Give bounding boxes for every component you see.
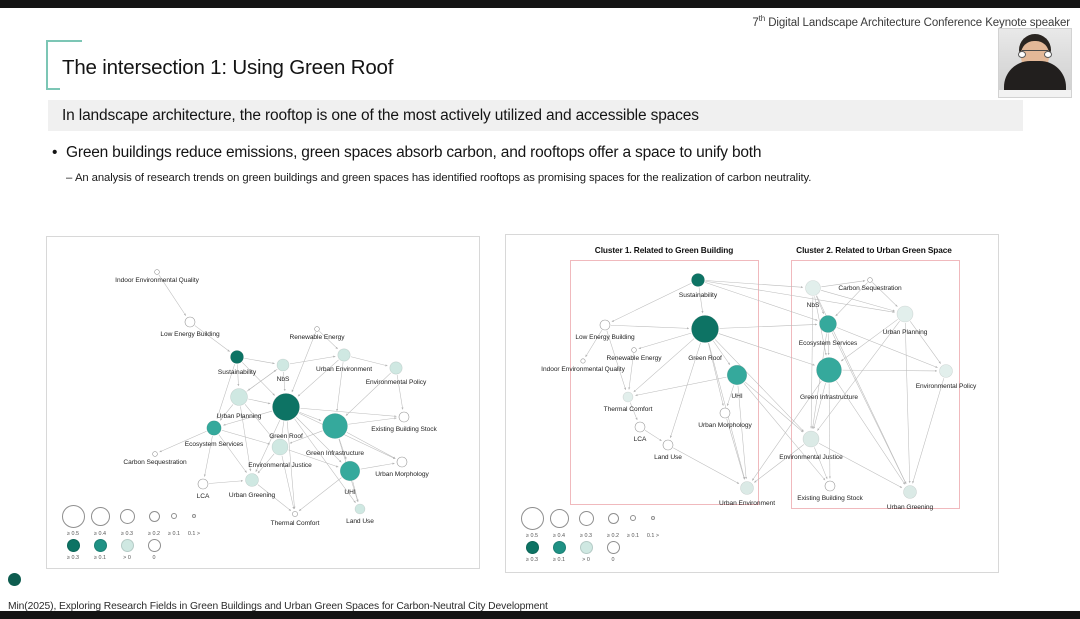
bullet-primary-text: Green buildings reduce emissions, green … xyxy=(66,144,761,161)
network-panel-right[interactable]: Cluster 1. Related to Green BuildingClus… xyxy=(505,234,999,573)
node-label-sustainability: Sustainability xyxy=(218,369,256,376)
network-node-green_infrastructure[interactable] xyxy=(817,358,842,383)
node-label-low_energy_building: Low Energy Building xyxy=(160,331,219,338)
node-label-indoor_env_quality: Indoor Environmental Quality xyxy=(541,366,625,373)
legend-size-label-1: ≥ 0.4 xyxy=(94,531,106,537)
legend-size-label-5: 0.1 > xyxy=(188,531,200,537)
network-node-indoor_env_quality[interactable] xyxy=(581,359,585,363)
legend-color-circle-3 xyxy=(607,541,620,554)
network-node-lca[interactable] xyxy=(198,479,208,489)
node-label-environmental_policy: Environmental Policy xyxy=(916,383,977,390)
node-label-green_infrastructure: Green Infrastructure xyxy=(800,394,858,401)
network-node-carbon_sequestration[interactable] xyxy=(153,452,158,457)
legend-size-circle-0 xyxy=(521,507,544,530)
legend-size-label-4: ≥ 0.1 xyxy=(168,531,180,537)
legend-size-circle-0 xyxy=(62,505,85,528)
legend-size-circle-3 xyxy=(149,511,160,522)
node-label-green_roof: Green Roof xyxy=(688,355,722,362)
legend-size-label-3: ≥ 0.2 xyxy=(148,531,160,537)
highlight-banner: In landscape architecture, the rooftop i… xyxy=(48,100,1023,131)
legend-size-label-0: ≥ 0.5 xyxy=(526,533,538,539)
bullet-primary: •Green buildings reduce emissions, green… xyxy=(52,144,761,162)
node-label-carbon_sequestration: Carbon Sequestration xyxy=(838,285,901,292)
legend-size-circle-1 xyxy=(91,507,110,526)
node-label-thermal_comfort: Thermal Comfort xyxy=(271,520,320,527)
network-node-green_infrastructure[interactable] xyxy=(323,414,348,439)
network-node-low_energy_building[interactable] xyxy=(185,317,195,327)
network-node-ecosystem_services[interactable] xyxy=(820,316,837,333)
bullet-secondary: –An analysis of research trends on green… xyxy=(66,172,811,184)
legend-size-circle-1 xyxy=(550,509,569,528)
network-node-renewable_energy[interactable] xyxy=(632,348,637,353)
network-node-lca[interactable] xyxy=(635,422,645,432)
node-label-lca: LCA xyxy=(634,436,647,443)
legend-color-label-0: ≥ 0.3 xyxy=(526,557,538,563)
node-label-uhi: UHI xyxy=(731,393,742,400)
node-label-green_roof: Green Roof xyxy=(269,433,303,440)
legend-color-label-0: ≥ 0.3 xyxy=(67,555,79,561)
legend-size-circle-2 xyxy=(579,511,594,526)
legend: ≥ 0.5≥ 0.4≥ 0.3≥ 0.2≥ 0.10.1 >≥ 0.3≥ 0.1… xyxy=(59,503,229,559)
legend-color-label-3: 0 xyxy=(153,555,156,561)
legend-size-label-2: ≥ 0.3 xyxy=(121,531,133,537)
legend-color-circle-1 xyxy=(553,541,566,554)
window-bottom-bar xyxy=(0,611,1080,619)
network-node-thermal_comfort[interactable] xyxy=(292,511,297,516)
legend-color-label-1: ≥ 0.1 xyxy=(553,557,565,563)
network-node-green_roof[interactable] xyxy=(692,316,719,343)
node-label-low_energy_building: Low Energy Building xyxy=(575,334,634,341)
node-label-ecosystem_services: Ecosystem Services xyxy=(799,340,857,347)
node-label-land_use: Land Use xyxy=(654,454,682,461)
network-node-sustainability[interactable] xyxy=(692,274,705,287)
edges-group xyxy=(159,275,403,511)
node-label-existing_building_stock: Existing Building Stock xyxy=(797,495,863,502)
page-title: The intersection 1: Using Green Roof xyxy=(62,56,393,80)
node-label-carbon_sequestration: Carbon Sequestration xyxy=(123,459,186,466)
legend-size-circle-4 xyxy=(630,515,636,521)
network-node-low_energy_building[interactable] xyxy=(600,320,610,330)
node-label-urban_morphology: Urban Morphology xyxy=(698,422,751,429)
network-node-environmental_justice[interactable] xyxy=(272,439,288,455)
legend-size-label-1: ≥ 0.4 xyxy=(553,533,565,539)
network-node-thermal_comfort[interactable] xyxy=(623,392,633,402)
legend-color-label-2: > 0 xyxy=(123,555,131,561)
node-label-nbs: NbS xyxy=(807,302,820,309)
legend-color-circle-1 xyxy=(94,539,107,552)
node-label-urban_greening: Urban Greening xyxy=(887,504,933,511)
webcam-torso xyxy=(1004,61,1066,91)
network-node-urban_greening[interactable] xyxy=(246,474,259,487)
network-node-ecosystem_services[interactable] xyxy=(207,421,221,435)
legend-color-circle-2 xyxy=(580,541,593,554)
title-bracket-corner xyxy=(46,76,60,90)
legend-size-label-0: ≥ 0.5 xyxy=(67,531,79,537)
footer-bullet-icon xyxy=(8,573,21,586)
bullet-marker-icon: • xyxy=(52,144,66,162)
network-node-environmental_justice[interactable] xyxy=(803,431,819,447)
node-label-renewable_energy: Renewable Energy xyxy=(290,334,345,341)
network-node-urban_morphology[interactable] xyxy=(397,457,407,467)
network-node-urban_planning[interactable] xyxy=(231,389,248,406)
webcam-desk xyxy=(999,90,1071,97)
network-node-urban_environment[interactable] xyxy=(741,482,754,495)
network-node-existing_building_stock[interactable] xyxy=(399,412,409,422)
edges-group xyxy=(585,281,943,488)
legend-size-label-2: ≥ 0.3 xyxy=(580,533,592,539)
legend-size-circle-5 xyxy=(192,514,196,518)
network-node-urban_morphology[interactable] xyxy=(720,408,730,418)
node-label-environmental_policy: Environmental Policy xyxy=(366,379,427,386)
node-label-nbs: NbS xyxy=(277,376,290,383)
legend-size-circle-3 xyxy=(608,513,619,524)
network-node-green_roof[interactable] xyxy=(273,394,300,421)
legend-size-circle-2 xyxy=(120,509,135,524)
node-label-existing_building_stock: Existing Building Stock xyxy=(371,426,437,433)
speaker-webcam-thumbnail[interactable] xyxy=(998,28,1072,98)
legend-size-circle-4 xyxy=(171,513,177,519)
network-node-environmental_policy[interactable] xyxy=(940,365,953,378)
node-label-environmental_justice: Environmental Justice xyxy=(248,462,311,469)
network-node-urban_greening[interactable] xyxy=(904,486,917,499)
node-label-thermal_comfort: Thermal Comfort xyxy=(604,406,653,413)
legend-size-label-4: ≥ 0.1 xyxy=(627,533,639,539)
network-node-renewable_energy[interactable] xyxy=(315,327,320,332)
bullet-secondary-text: An analysis of research trends on green … xyxy=(75,172,811,184)
node-label-urban_planning: Urban Planning xyxy=(217,413,262,420)
legend-color-label-1: ≥ 0.1 xyxy=(94,555,106,561)
network-node-indoor_env_quality[interactable] xyxy=(155,270,160,275)
legend: ≥ 0.5≥ 0.4≥ 0.3≥ 0.2≥ 0.10.1 >≥ 0.3≥ 0.1… xyxy=(518,505,688,561)
node-label-renewable_energy: Renewable Energy xyxy=(607,355,662,362)
node-label-lca: LCA xyxy=(197,493,210,500)
legend-color-circle-0 xyxy=(67,539,80,552)
legend-size-circle-5 xyxy=(651,516,655,520)
legend-color-label-2: > 0 xyxy=(582,557,590,563)
legend-size-label-3: ≥ 0.2 xyxy=(607,533,619,539)
node-label-ecosystem_services: Ecosystem Services xyxy=(185,441,243,448)
network-node-carbon_sequestration[interactable] xyxy=(868,278,873,283)
webcam-eye-right xyxy=(1044,51,1052,58)
network-node-nbs[interactable] xyxy=(277,359,289,371)
network-node-sustainability[interactable] xyxy=(231,351,244,364)
legend-color-circle-2 xyxy=(121,539,134,552)
node-label-urban_environment: Urban Environment xyxy=(719,500,775,507)
nodes-group xyxy=(153,270,409,517)
webcam-eye-left xyxy=(1018,51,1026,58)
network-node-urban_planning[interactable] xyxy=(897,306,913,322)
legend-color-label-3: 0 xyxy=(612,557,615,563)
window-top-bar xyxy=(0,0,1080,8)
node-label-sustainability: Sustainability xyxy=(679,292,717,299)
conference-header: 7th Digital Landscape Architecture Confe… xyxy=(752,14,1070,29)
node-label-environmental_justice: Environmental Justice xyxy=(779,454,842,461)
network-node-land_use[interactable] xyxy=(663,440,673,450)
legend-color-circle-0 xyxy=(526,541,539,554)
highlight-banner-text: In landscape architecture, the rooftop i… xyxy=(48,107,699,125)
network-node-nbs[interactable] xyxy=(806,281,821,296)
sub-bullet-marker-icon: – xyxy=(66,172,75,184)
network-node-land_use[interactable] xyxy=(355,504,365,514)
network-panel-left[interactable]: Indoor Environmental QualityLow Energy B… xyxy=(46,236,480,569)
network-node-uhi[interactable] xyxy=(340,461,360,481)
legend-color-circle-3 xyxy=(148,539,161,552)
node-label-uhi: UHI xyxy=(344,489,355,496)
node-label-indoor_env_quality: Indoor Environmental Quality xyxy=(115,277,199,284)
network-node-existing_building_stock[interactable] xyxy=(825,481,835,491)
node-label-urban_environment: Urban Environment xyxy=(316,366,372,373)
footer-citation: Min(2025), Exploring Research Fields in … xyxy=(8,601,548,612)
node-label-urban_planning: Urban Planning xyxy=(883,329,928,336)
legend-size-label-5: 0.1 > xyxy=(647,533,659,539)
node-label-land_use: Land Use xyxy=(346,518,374,525)
node-label-green_infrastructure: Green Infrastructure xyxy=(306,450,364,457)
node-label-urban_greening: Urban Greening xyxy=(229,492,275,499)
network-node-uhi[interactable] xyxy=(727,365,747,385)
network-node-environmental_policy[interactable] xyxy=(390,362,402,374)
node-label-urban_morphology: Urban Morphology xyxy=(375,471,428,478)
network-node-urban_environment[interactable] xyxy=(338,349,350,361)
